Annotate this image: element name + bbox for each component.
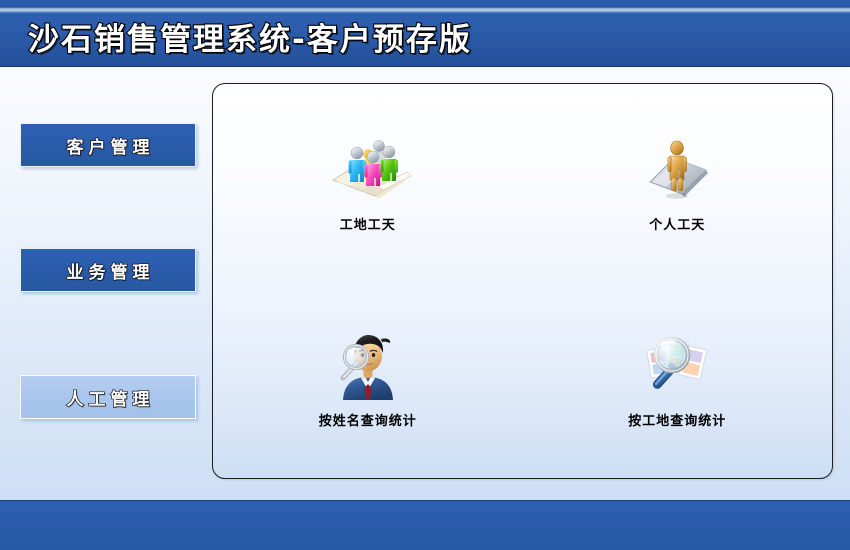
- sidebar-item-label: 人工管理: [62, 385, 155, 410]
- single-person-on-book-icon: [632, 132, 722, 206]
- group-people-on-document-icon: [323, 132, 413, 206]
- window-title-bar: 沙石销售管理系统-客户预存版: [0, 0, 850, 67]
- tile-label: 按姓名查询统计: [319, 410, 417, 429]
- tile-label: 按工地查询统计: [628, 410, 726, 429]
- sidebar-item-customer-management[interactable]: 客户管理: [20, 123, 196, 167]
- status-bar: [0, 500, 850, 550]
- sidebar-item-business-management[interactable]: 业务管理: [20, 248, 196, 292]
- tile-query-by-site[interactable]: 按工地查询统计: [523, 281, 833, 478]
- sidebar-item-label: 业务管理: [62, 258, 155, 283]
- tile-personal-workdays[interactable]: 个人工天: [523, 84, 833, 281]
- tile-label: 工地工天: [340, 214, 396, 233]
- tile-site-workdays[interactable]: 工地工天: [213, 84, 523, 281]
- sidebar-item-labor-management[interactable]: 人工管理: [20, 375, 196, 419]
- person-with-magnifier-icon: [323, 330, 413, 404]
- tile-label: 个人工天: [649, 214, 705, 233]
- sidebar-item-label: 客户管理: [62, 133, 155, 158]
- app-title: 沙石销售管理系统-客户预存版: [28, 14, 472, 59]
- content-panel: 工地工天: [212, 83, 833, 479]
- module-tile-grid: 工地工天: [213, 84, 832, 478]
- magnifier-over-cards-icon: [632, 330, 722, 404]
- tile-query-by-name[interactable]: 按姓名查询统计: [213, 281, 523, 478]
- sidebar-nav: 客户管理 业务管理 人工管理: [0, 67, 210, 500]
